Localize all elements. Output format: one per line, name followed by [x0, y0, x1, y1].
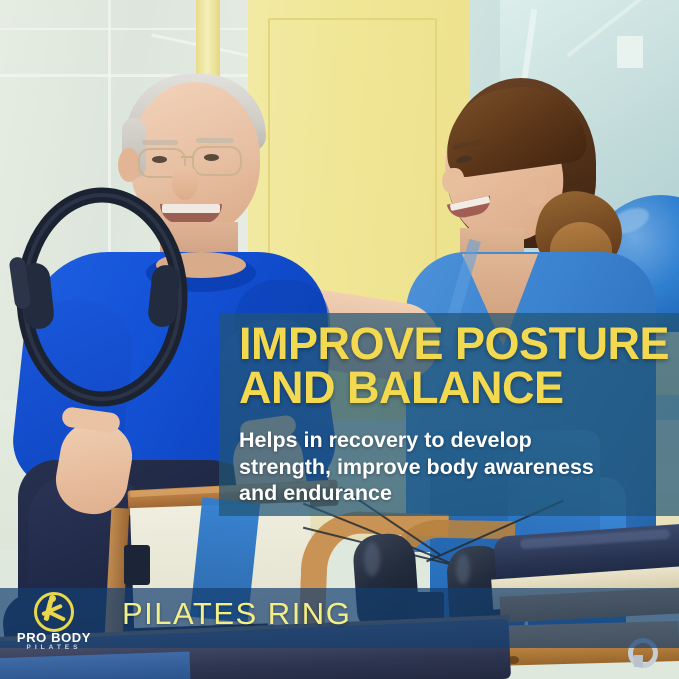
pilates-chair-post	[124, 545, 150, 585]
therapist-nose	[442, 168, 464, 194]
man-finger	[61, 406, 121, 434]
subtext: Helps in recovery to develop strength, i…	[239, 427, 611, 507]
metal-hook-stem	[634, 655, 643, 667]
headline: IMPROVE POSTURE AND BALANCE	[239, 322, 675, 410]
man-hand-left	[51, 416, 138, 519]
headline-line-2: AND BALANCE	[239, 366, 675, 410]
product-title: PILATES RING	[122, 596, 351, 632]
brand-logo: PRO BODY PILATES	[8, 592, 100, 644]
pad-highlight	[456, 554, 470, 584]
therapist-ear	[526, 178, 546, 206]
logo-brand-name: PRO BODY	[8, 630, 100, 645]
wall-notice	[617, 36, 643, 68]
logo-brand-sub: PILATES	[8, 644, 100, 651]
product-ad-image: IMPROVE POSTURE AND BALANCE Helps in rec…	[0, 0, 679, 679]
pad-highlight	[364, 542, 380, 576]
